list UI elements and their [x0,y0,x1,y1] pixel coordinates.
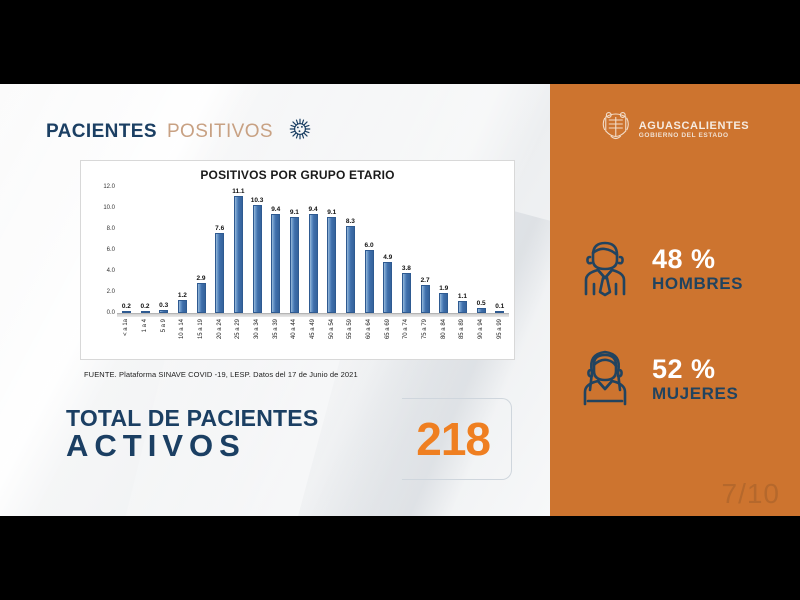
chart-x-tick-slot: 90 a 94 [472,319,491,359]
chart-bar: 9.1 [285,187,304,313]
total-active-patients-card: TOTAL DE PACIENTES ACTIVOS 218 [44,398,512,480]
stat-percent-hombres: 48 % [652,245,743,275]
chart-bar-rect [421,285,430,313]
chart-x-tick-slot: 60 a 64 [360,319,379,359]
chart-bar: 2.7 [416,187,435,313]
total-label-line2: ACTIVOS [66,430,318,463]
chart-y-tick: 0.0 [107,310,115,316]
chart-x-tick-slot: 50 a 54 [322,319,341,359]
chart-bar-value-label: 0.2 [140,303,149,310]
chart-bar-rect [402,273,411,313]
chart-x-tick-label: 95 a 99 [497,319,503,339]
chart-x-tick-label: 20 a 24 [217,319,223,339]
chart-x-tick-label: 75 a 79 [422,319,428,339]
chart-x-tick-label: 10 a 14 [179,319,185,339]
chart-x-tick-slot: 5 a 9 [154,319,173,359]
chart-bar-value-label: 2.9 [197,275,206,282]
chart-x-tick-slot: 1 a 4 [136,319,155,359]
chart-y-tick: 10.0 [103,205,115,211]
chart-y-tick: 8.0 [107,226,115,232]
female-person-icon [576,346,634,413]
chart-bar-rect [439,293,448,313]
chart-bar-value-label: 9.1 [290,209,299,216]
chart-x-tick-label: 35 a 39 [273,319,279,339]
chart-bar-rect [365,250,374,313]
chart-bar-rect [383,262,392,313]
chart-bar: 6.0 [360,187,379,313]
header-title-bold: PACIENTES [46,121,157,143]
chart-bar: 0.2 [136,187,155,313]
total-card-label: TOTAL DE PACIENTES ACTIVOS [66,406,318,463]
chart-bar-rect [215,233,224,313]
chart-bar: 1.2 [173,187,192,313]
chart-bar: 3.8 [397,187,416,313]
chart-bar-rect [458,301,467,313]
chart-x-tick-label: 50 a 54 [329,319,335,339]
chart-x-tick-slot: 75 a 79 [416,319,435,359]
chart-y-tick: 6.0 [107,247,115,253]
chart-x-tick-slot: 80 a 84 [434,319,453,359]
stat-label-mujeres: MUJERES [652,385,738,404]
government-name: AGUASCALIENTES [639,120,749,132]
stat-label-hombres: HOMBRES [652,275,743,294]
chart-bar-rect [290,217,299,313]
government-subtitle: GOBIERNO DEL ESTADO [639,132,749,139]
chart-bar: 4.9 [378,187,397,313]
chart-x-tick-slot: 85 a 89 [453,319,472,359]
slide-root: PACIENTES POSITIVOS [0,0,800,600]
chart-bar-rect [327,217,336,313]
chart-y-axis: 0.02.04.06.08.010.012.0 [85,187,115,313]
chart-x-tick-slot: 25 a 29 [229,319,248,359]
chart-bar-value-label: 0.1 [495,303,504,310]
chart-bar-rect [234,196,243,313]
chart-bar-value-label: 0.3 [159,302,168,309]
slide-canvas: PACIENTES POSITIVOS [0,84,800,516]
chart-bar-value-label: 7.6 [215,225,224,232]
chart-bar: 1.1 [453,187,472,313]
chart-y-tick: 4.0 [107,268,115,274]
chart-bar-value-label: 0.5 [477,300,486,307]
chart-bar-value-label: 8.3 [346,218,355,225]
chart-bar-value-label: 1.1 [458,293,467,300]
chart-bar: 2.9 [192,187,211,313]
chart-bars: 0.20.20.31.22.97.611.110.39.49.19.49.18.… [117,187,509,313]
chart-bar-value-label: 9.4 [271,206,280,213]
chart-x-tick-slot: 55 a 59 [341,319,360,359]
chart-bar-rect [253,205,262,313]
chart-bar: 9.1 [322,187,341,313]
virus-icon [287,116,313,147]
source-note: FUENTE. Plataforma SINAVE COVID -19, LES… [84,370,358,379]
chart-x-tick-slot: < a 1a [117,319,136,359]
chart-x-tick-label: 25 a 29 [235,319,241,339]
chart-bar-value-label: 1.9 [439,285,448,292]
chart-bar-value-label: 3.8 [402,265,411,272]
stat-row-mujeres: 52 % MUJERES [576,346,738,413]
chart-card: POSITIVOS POR GRUPO ETARIO 0.02.04.06.08… [80,160,515,360]
stat-row-hombres: 48 % HOMBRES [576,236,743,303]
chart-x-tick-slot: 45 a 49 [304,319,323,359]
chart-bar: 9.4 [266,187,285,313]
chart-bar-value-label: 0.2 [122,303,131,310]
chart-x-tick-slot: 35 a 39 [266,319,285,359]
chart-bar-value-label: 10.3 [251,197,264,204]
chart-bar-value-label: 1.2 [178,292,187,299]
chart-bar-value-label: 9.1 [327,209,336,216]
chart-x-tick-label: 55 a 59 [347,319,353,339]
chart-bar-rect [271,214,280,313]
chart-x-tick-label: 5 a 9 [161,319,167,332]
chart-bar-rect [309,214,318,313]
chart-x-tick-label: 30 a 34 [254,319,260,339]
right-orange-panel: AGUASCALIENTES GOBIERNO DEL ESTADO [550,84,800,516]
chart-bar: 9.4 [304,187,323,313]
chart-bar: 8.3 [341,187,360,313]
chart-x-tick-slot: 15 a 19 [192,319,211,359]
chart-bar-rect [197,283,206,313]
chart-bar: 7.6 [210,187,229,313]
chart-plot-area: 0.02.04.06.08.010.012.0 0.20.20.31.22.97… [81,185,516,361]
header-title-light: POSITIVOS [167,121,273,143]
chart-bar-rect [178,300,187,313]
chart-x-tick-label: 1 a 4 [142,319,148,332]
chart-y-tick: 2.0 [107,289,115,295]
chart-bar-value-label: 4.9 [383,254,392,261]
chart-x-tick-slot: 20 a 24 [210,319,229,359]
chart-x-tick-label: < a 1a [123,319,129,336]
chart-bar-rect [346,226,355,313]
letterbox-top [0,0,800,84]
chart-x-tick-slot: 10 a 14 [173,319,192,359]
chart-x-tick-slot: 70 a 74 [397,319,416,359]
chart-bar: 0.5 [472,187,491,313]
chart-bar-value-label: 2.7 [421,277,430,284]
chart-bar: 11.1 [229,187,248,313]
chart-bar: 1.9 [434,187,453,313]
chart-x-tick-label: 80 a 84 [441,319,447,339]
chart-x-tick-label: 65 a 69 [385,319,391,339]
chart-x-tick-label: 40 a 44 [291,319,297,339]
chart-x-tick-label: 45 a 49 [310,319,316,339]
coat-of-arms-icon [601,108,631,151]
chart-y-tick: 12.0 [103,184,115,190]
government-logo: AGUASCALIENTES GOBIERNO DEL ESTADO [601,108,749,151]
chart-x-tick-slot: 40 a 44 [285,319,304,359]
chart-bar-value-label: 6.0 [365,242,374,249]
chart-bar: 10.3 [248,187,267,313]
chart-x-tick-slot: 95 a 99 [490,319,509,359]
chart-x-tick-label: 70 a 74 [403,319,409,339]
chart-bar: 0.1 [490,187,509,313]
letterbox-bottom [0,516,800,600]
chart-x-tick-slot: 30 a 34 [248,319,267,359]
chart-title: POSITIVOS POR GRUPO ETARIO [81,168,514,182]
section-header: PACIENTES POSITIVOS [46,116,313,147]
page-indicator: 7/10 [722,478,781,510]
chart-bar: 0.2 [117,187,136,313]
total-active-value: 218 [416,412,490,466]
male-person-icon [576,236,634,303]
chart-bar-value-label: 11.1 [232,188,244,195]
chart-axis-line [117,313,509,317]
chart-x-tick-label: 85 a 89 [459,319,465,339]
chart-x-tick-label: 90 a 94 [478,319,484,339]
chart-x-tick-label: 15 a 19 [198,319,204,339]
stat-percent-mujeres: 52 % [652,355,738,385]
chart-x-tick-label: 60 a 64 [366,319,372,339]
left-content-panel: PACIENTES POSITIVOS [0,84,550,516]
chart-bar: 0.3 [154,187,173,313]
chart-bar-value-label: 9.4 [309,206,318,213]
total-label-line1: TOTAL DE PACIENTES [66,406,318,430]
chart-x-tick-slot: 65 a 69 [378,319,397,359]
chart-x-axis: < a 1a1 a 45 a 910 a 1415 a 1920 a 2425 … [117,319,509,359]
